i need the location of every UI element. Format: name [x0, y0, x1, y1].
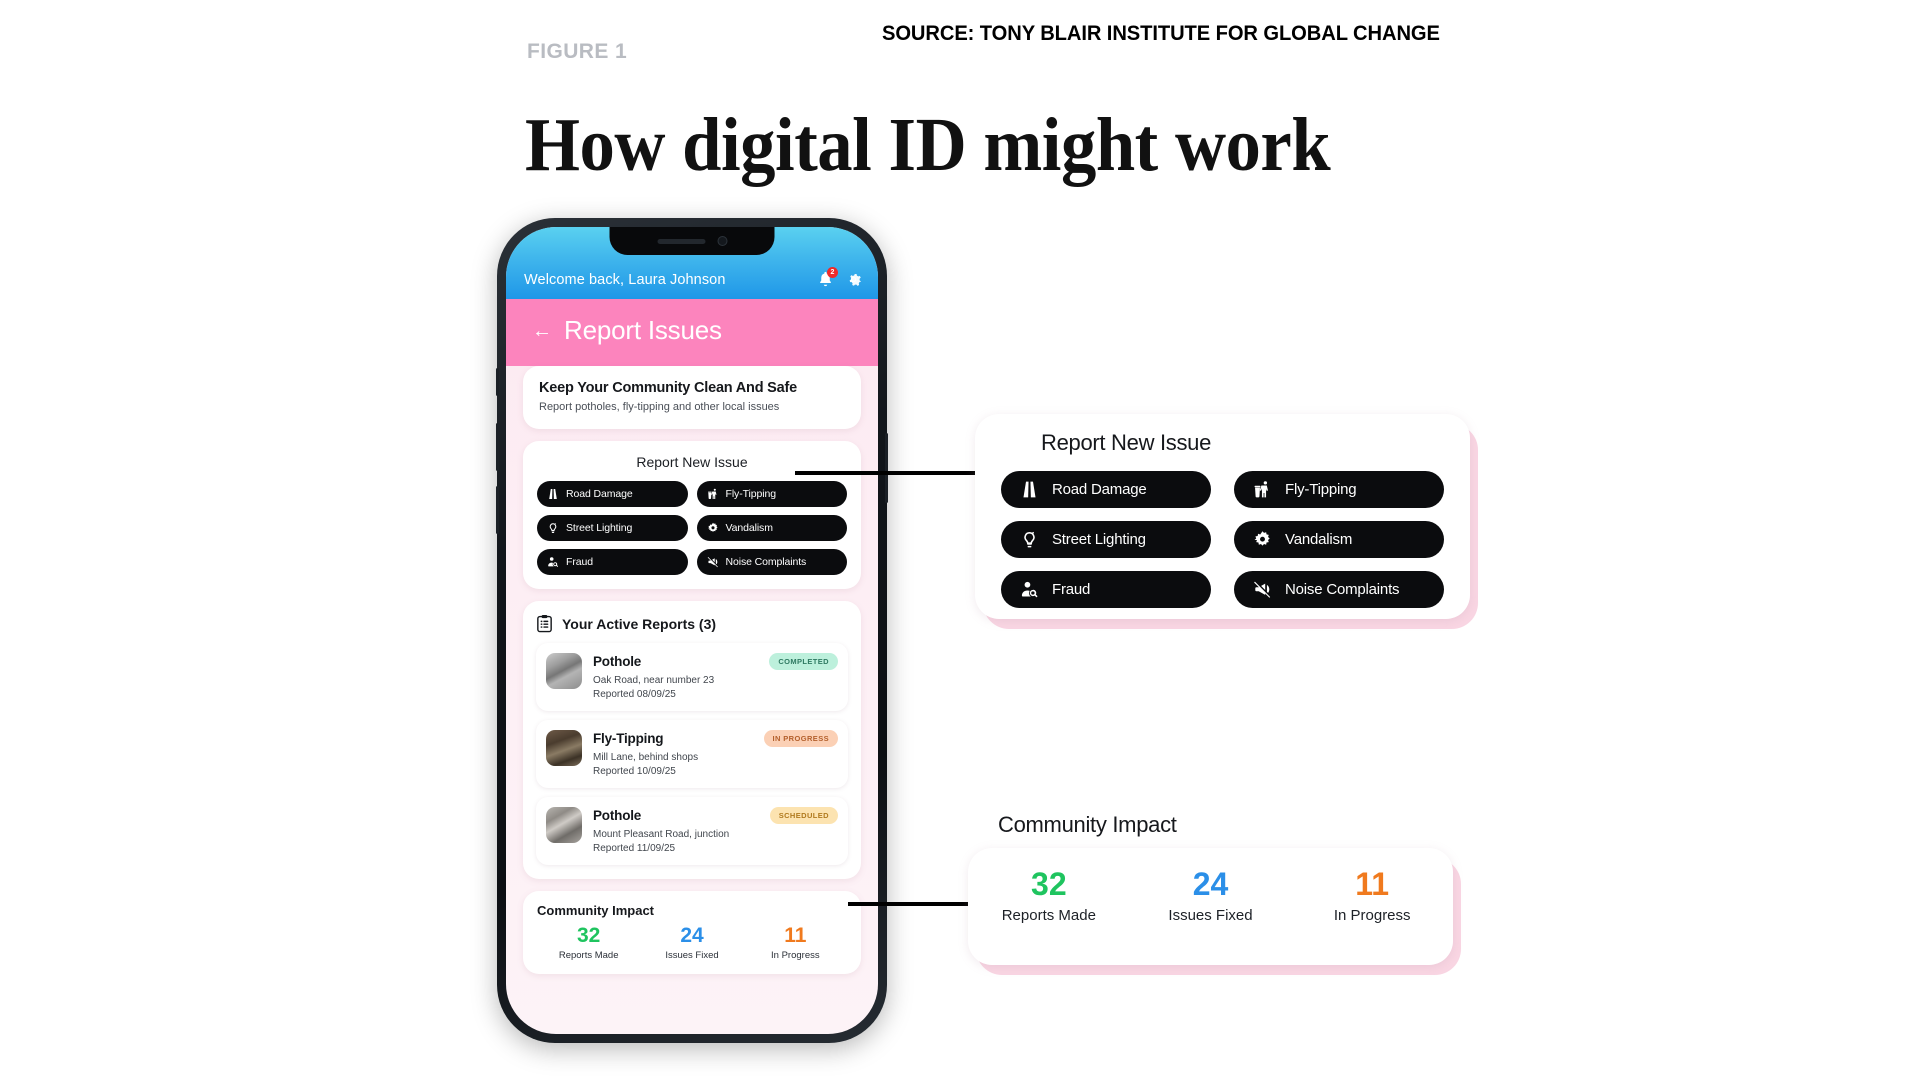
callout-impact-stat: 24Issues Fixed — [1130, 868, 1292, 924]
callout-issue-option-fly-tipping[interactable]: Fly-Tipping — [1234, 471, 1444, 508]
callout-impact-stat-label: Reports Made — [968, 907, 1130, 924]
issue-option-label: Vandalism — [726, 522, 773, 534]
impact-stat: 32Reports Made — [537, 925, 640, 961]
impact-stat: 24Issues Fixed — [640, 925, 743, 961]
banner-subtitle: Report potholes, fly-tipping and other l… — [539, 401, 845, 413]
phone-screen: Welcome back, Laura Johnson 2 — [506, 227, 878, 1034]
report-date: Reported 08/09/25 — [593, 689, 838, 700]
litter-bin-icon — [707, 488, 719, 500]
source-label: SOURCE: TONY BLAIR INSTITUTE FOR GLOBAL … — [882, 22, 1440, 46]
callout-issue-option-fraud[interactable]: Fraud — [1001, 571, 1211, 608]
issue-option-noise-complaints[interactable]: Noise Complaints — [697, 549, 848, 575]
report-date: Reported 11/09/25 — [593, 843, 838, 854]
report-new-issue-grid: Road DamageFly-TippingStreet LightingVan… — [537, 481, 847, 575]
report-title: Pothole — [593, 654, 641, 669]
report-details: PotholeSCHEDULEDMount Pleasant Road, jun… — [593, 807, 838, 854]
person-search-icon — [1020, 580, 1039, 599]
issue-option-label: Road Damage — [566, 488, 633, 500]
impact-stat: 11In Progress — [744, 925, 847, 961]
report-location: Mill Lane, behind shops — [593, 752, 838, 763]
back-arrow-icon[interactable]: ← — [532, 321, 552, 341]
impact-stat-label: Reports Made — [537, 950, 640, 961]
callout-issue-option-label: Street Lighting — [1052, 531, 1146, 548]
report-new-issue-card: Report New Issue Road DamageFly-TippingS… — [523, 441, 861, 589]
report-title: Pothole — [593, 808, 641, 823]
welcome-text: Welcome back, Laura Johnson — [524, 272, 726, 288]
community-impact-card: Community Impact 32Reports Made24Issues … — [523, 891, 861, 974]
report-list-item[interactable]: PotholeCOMPLETEDOak Road, near number 23… — [536, 643, 848, 711]
issue-option-label: Fraud — [566, 556, 593, 568]
issue-option-road-damage[interactable]: Road Damage — [537, 481, 688, 507]
phone-mockup: Welcome back, Laura Johnson 2 — [497, 218, 887, 1043]
callout-panel: Community Impact 32Reports Made24Issues … — [968, 848, 1453, 965]
callout-report-title: Report New Issue — [1041, 430, 1211, 456]
earpiece-speaker — [657, 239, 705, 244]
impact-stat-value: 24 — [640, 925, 743, 947]
report-thumbnail — [546, 730, 582, 766]
active-reports-title: Your Active Reports (3) — [562, 616, 716, 632]
callout-impact-stat: 11In Progress — [1291, 868, 1453, 924]
callout-issue-option-label: Road Damage — [1052, 481, 1147, 498]
person-search-icon — [547, 556, 559, 568]
megaphone-muted-icon — [1253, 580, 1272, 599]
issue-option-label: Noise Complaints — [726, 556, 807, 568]
issue-option-fly-tipping[interactable]: Fly-Tipping — [697, 481, 848, 507]
report-thumbnail — [546, 807, 582, 843]
issue-option-fraud[interactable]: Fraud — [537, 549, 688, 575]
screen-title: Report Issues — [564, 315, 722, 346]
phone-volume-down-button — [496, 486, 499, 534]
phone-power-button — [885, 433, 888, 503]
connector-line-impact — [848, 902, 972, 906]
front-camera-icon — [717, 236, 727, 246]
impact-stat-value: 32 — [537, 925, 640, 947]
litter-bin-icon — [1253, 480, 1272, 499]
callout-issue-option-street-lighting[interactable]: Street Lighting — [1001, 521, 1211, 558]
notification-badge: 2 — [827, 267, 838, 278]
callout-issue-option-label: Fly-Tipping — [1285, 481, 1356, 498]
community-impact-title: Community Impact — [537, 903, 847, 918]
screen-header: ← Report Issues — [506, 299, 878, 366]
status-badge: COMPLETED — [769, 653, 838, 670]
callout-issue-option-vandalism[interactable]: Vandalism — [1234, 521, 1444, 558]
callout-issue-option-noise-complaints[interactable]: Noise Complaints — [1234, 571, 1444, 608]
report-title-row: PotholeSCHEDULED — [593, 807, 838, 824]
impact-stat-label: Issues Fixed — [640, 950, 743, 961]
report-title-row: Fly-TippingIN PROGRESS — [593, 730, 838, 747]
report-details: Fly-TippingIN PROGRESSMill Lane, behind … — [593, 730, 838, 777]
callout-report-new-issue: Report New Issue Road DamageFly-TippingS… — [975, 414, 1470, 619]
community-impact-stats: 32Reports Made24Issues Fixed11In Progres… — [537, 925, 847, 961]
screen-content: Keep Your Community Clean And Safe Repor… — [506, 366, 878, 974]
phone-mute-switch — [496, 368, 499, 396]
report-details: PotholeCOMPLETEDOak Road, near number 23… — [593, 653, 838, 700]
active-reports-header: Your Active Reports (3) — [536, 614, 848, 633]
active-reports-card: Your Active Reports (3) PotholeCOMPLETED… — [523, 601, 861, 879]
road-icon — [1020, 480, 1039, 499]
callout-impact-stat-value: 32 — [968, 868, 1130, 902]
clipboard-icon — [536, 614, 553, 633]
callout-impact-stats: 32Reports Made24Issues Fixed11In Progres… — [968, 868, 1453, 924]
issue-option-label: Street Lighting — [566, 522, 632, 534]
figure-canvas: FIGURE 1 SOURCE: TONY BLAIR INSTITUTE FO… — [0, 0, 1920, 1080]
report-new-issue-title: Report New Issue — [537, 454, 847, 470]
report-location: Mount Pleasant Road, junction — [593, 829, 838, 840]
burst-icon — [1253, 530, 1272, 549]
phone-notch — [610, 227, 775, 255]
callout-report-grid: Road DamageFly-TippingStreet LightingVan… — [1001, 471, 1444, 608]
report-list-item[interactable]: PotholeSCHEDULEDMount Pleasant Road, jun… — [536, 797, 848, 865]
report-title: Fly-Tipping — [593, 731, 663, 746]
callout-community-impact: Community Impact 32Reports Made24Issues … — [968, 848, 1453, 965]
impact-stat-label: In Progress — [744, 950, 847, 961]
community-banner-card: Keep Your Community Clean And Safe Repor… — [523, 366, 861, 429]
callout-impact-stat-value: 11 — [1291, 868, 1453, 902]
callout-issue-option-label: Noise Complaints — [1285, 581, 1399, 598]
report-location: Oak Road, near number 23 — [593, 675, 838, 686]
callout-impact-stat-label: Issues Fixed — [1130, 907, 1292, 924]
report-title-row: PotholeCOMPLETED — [593, 653, 838, 670]
callout-impact-stat-value: 24 — [1130, 868, 1292, 902]
callout-issue-option-label: Vandalism — [1285, 531, 1352, 548]
megaphone-muted-icon — [707, 556, 719, 568]
issue-option-vandalism[interactable]: Vandalism — [697, 515, 848, 541]
status-badge: IN PROGRESS — [764, 730, 839, 747]
active-reports-list: PotholeCOMPLETEDOak Road, near number 23… — [536, 643, 848, 865]
phone-volume-up-button — [496, 423, 499, 471]
banner-title: Keep Your Community Clean And Safe — [539, 380, 845, 396]
callout-impact-stat: 32Reports Made — [968, 868, 1130, 924]
callout-impact-title: Community Impact — [998, 812, 1177, 838]
impact-stat-value: 11 — [744, 925, 847, 947]
status-badge: SCHEDULED — [770, 807, 838, 824]
connector-line-report — [795, 471, 975, 475]
status-icons: 2 — [817, 270, 862, 288]
lightbulb-icon — [547, 522, 559, 534]
callout-panel: Report New Issue Road DamageFly-TippingS… — [975, 414, 1470, 619]
issue-option-label: Fly-Tipping — [726, 488, 776, 500]
report-thumbnail — [546, 653, 582, 689]
road-icon — [547, 488, 559, 500]
lightbulb-icon — [1020, 530, 1039, 549]
callout-issue-option-label: Fraud — [1052, 581, 1090, 598]
figure-label: FIGURE 1 — [527, 40, 627, 64]
burst-icon — [707, 522, 719, 534]
gear-icon[interactable] — [845, 271, 862, 288]
report-date: Reported 10/09/25 — [593, 766, 838, 777]
notifications-button[interactable]: 2 — [817, 270, 834, 288]
callout-impact-stat-label: In Progress — [1291, 907, 1453, 924]
callout-issue-option-road-damage[interactable]: Road Damage — [1001, 471, 1211, 508]
report-list-item[interactable]: Fly-TippingIN PROGRESSMill Lane, behind … — [536, 720, 848, 788]
page-title: How digital ID might work — [525, 102, 1330, 189]
issue-option-street-lighting[interactable]: Street Lighting — [537, 515, 688, 541]
